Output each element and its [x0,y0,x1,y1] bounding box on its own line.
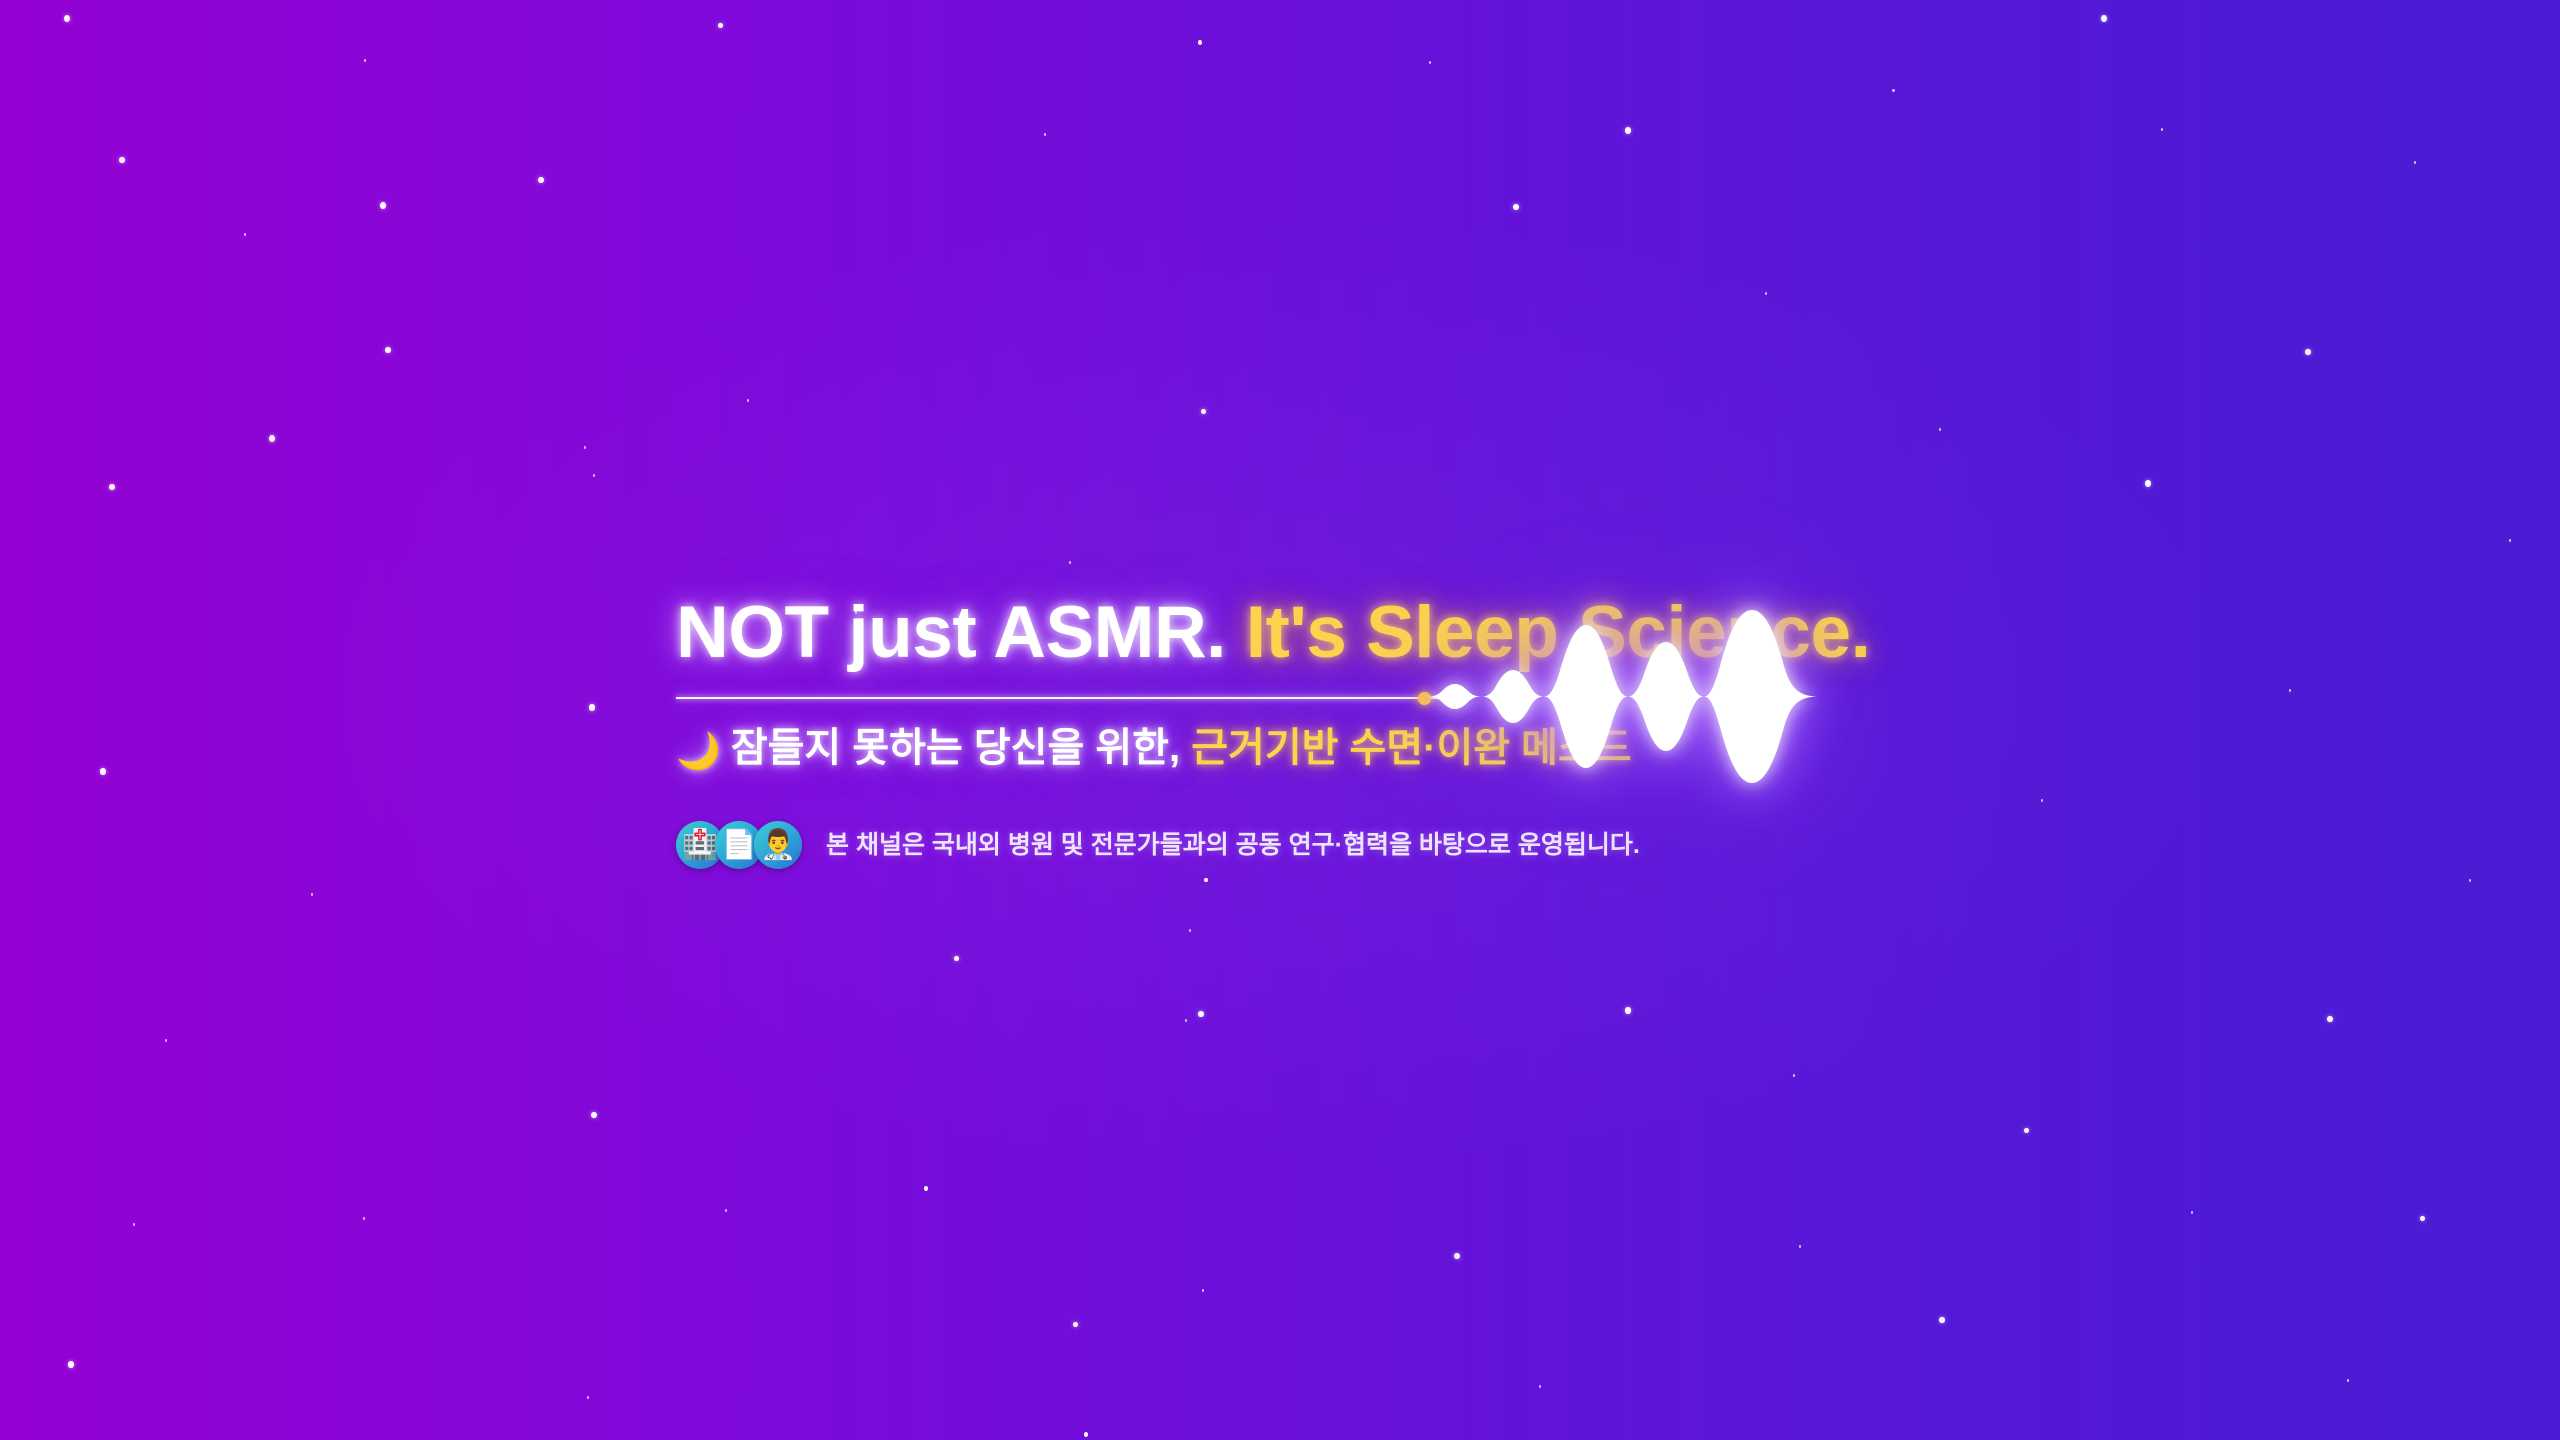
credit-row: 🏥📄👨‍⚕️ 본 채널은 국내외 병원 및 전문가들과의 공동 연구·협력을 바… [676,821,2076,869]
divider-waveform-row [676,687,2076,709]
audio-waveform-icon [1428,592,1818,807]
hero-content: NOT just ASMR. It's Sleep Science. 🌙잠들지 … [676,596,2076,869]
credit-icon-group: 🏥📄👨‍⚕️ [676,821,802,869]
crescent-moon-icon: 🌙 [676,728,721,773]
divider-line [676,697,1446,699]
headline-primary-text: NOT just ASMR. [676,592,1226,673]
credit-text: 본 채널은 국내외 병원 및 전문가들과의 공동 연구·협력을 바탕으로 운영됩… [826,829,1640,862]
page-title: NOT just ASMR. It's Sleep Science. [676,596,2076,669]
subtitle: 🌙잠들지 못하는 당신을 위한, 근거기반 수면·이완 메소드 [676,723,2076,773]
subtitle-primary-text: 잠들지 못하는 당신을 위한, [731,726,1180,770]
banner-canvas: NOT just ASMR. It's Sleep Science. 🌙잠들지 … [0,0,2560,1440]
doctor-icon: 👨‍⚕️ [754,821,802,869]
